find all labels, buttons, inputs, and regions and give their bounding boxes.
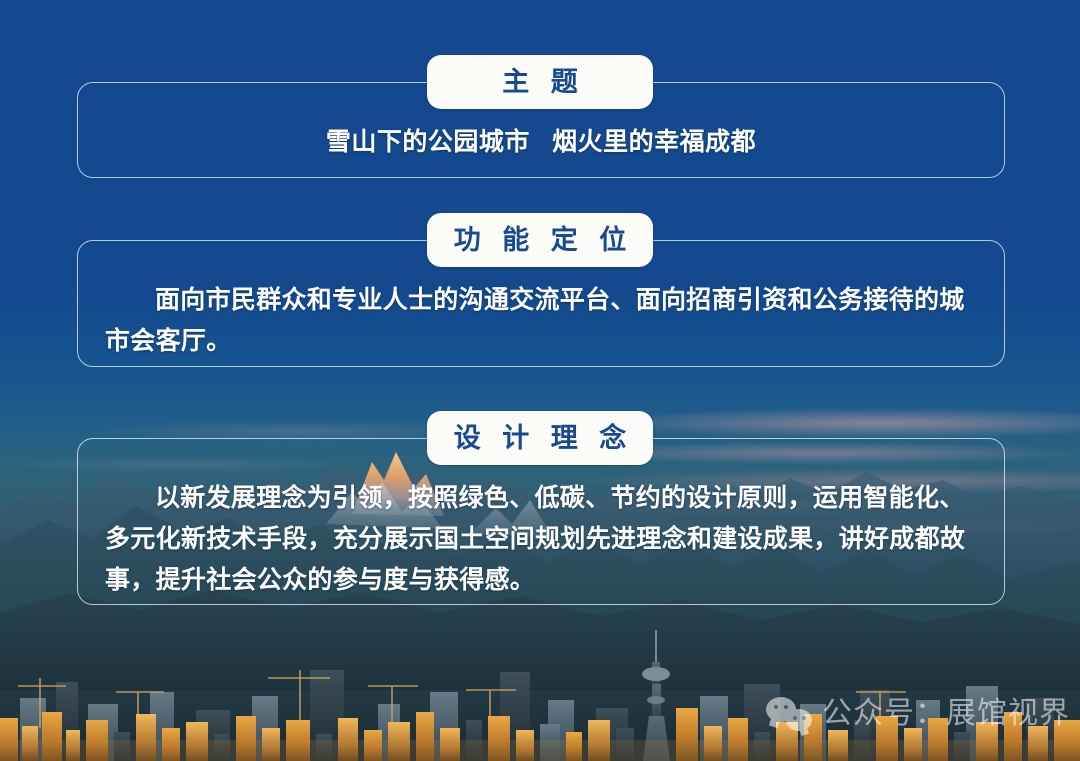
theme-pill-text: 主 题 [495,69,585,96]
poster-canvas: 主 题 雪山下的公园城市 烟火里的幸福成都 功 能 定 位 面向市民群众和专业人… [0,0,1080,761]
design-body-text: 以新发展理念为引领，按照绿色、低碳、节约的设计原则，运用智能化、多元化新技术手段… [105,478,985,601]
design-pill-text: 设 计 理 念 [447,425,634,452]
watermark-label: 公众号：展馆视界 [822,699,1070,729]
wechat-icon [766,697,812,731]
design-pill-label: 设 计 理 念 [427,411,653,465]
theme-pill-label: 主 题 [427,55,653,109]
watermark: 公众号：展馆视界 [766,697,1070,731]
city-skyline [0,600,1080,761]
theme-body-text: 雪山下的公园城市 烟火里的幸福成都 [77,122,1005,158]
function-pill-text: 功 能 定 位 [447,227,634,254]
function-pill-label: 功 能 定 位 [427,213,653,267]
function-body-text: 面向市民群众和专业人士的沟通交流平台、面向招商引资和公务接待的城市会客厅。 [105,280,980,362]
